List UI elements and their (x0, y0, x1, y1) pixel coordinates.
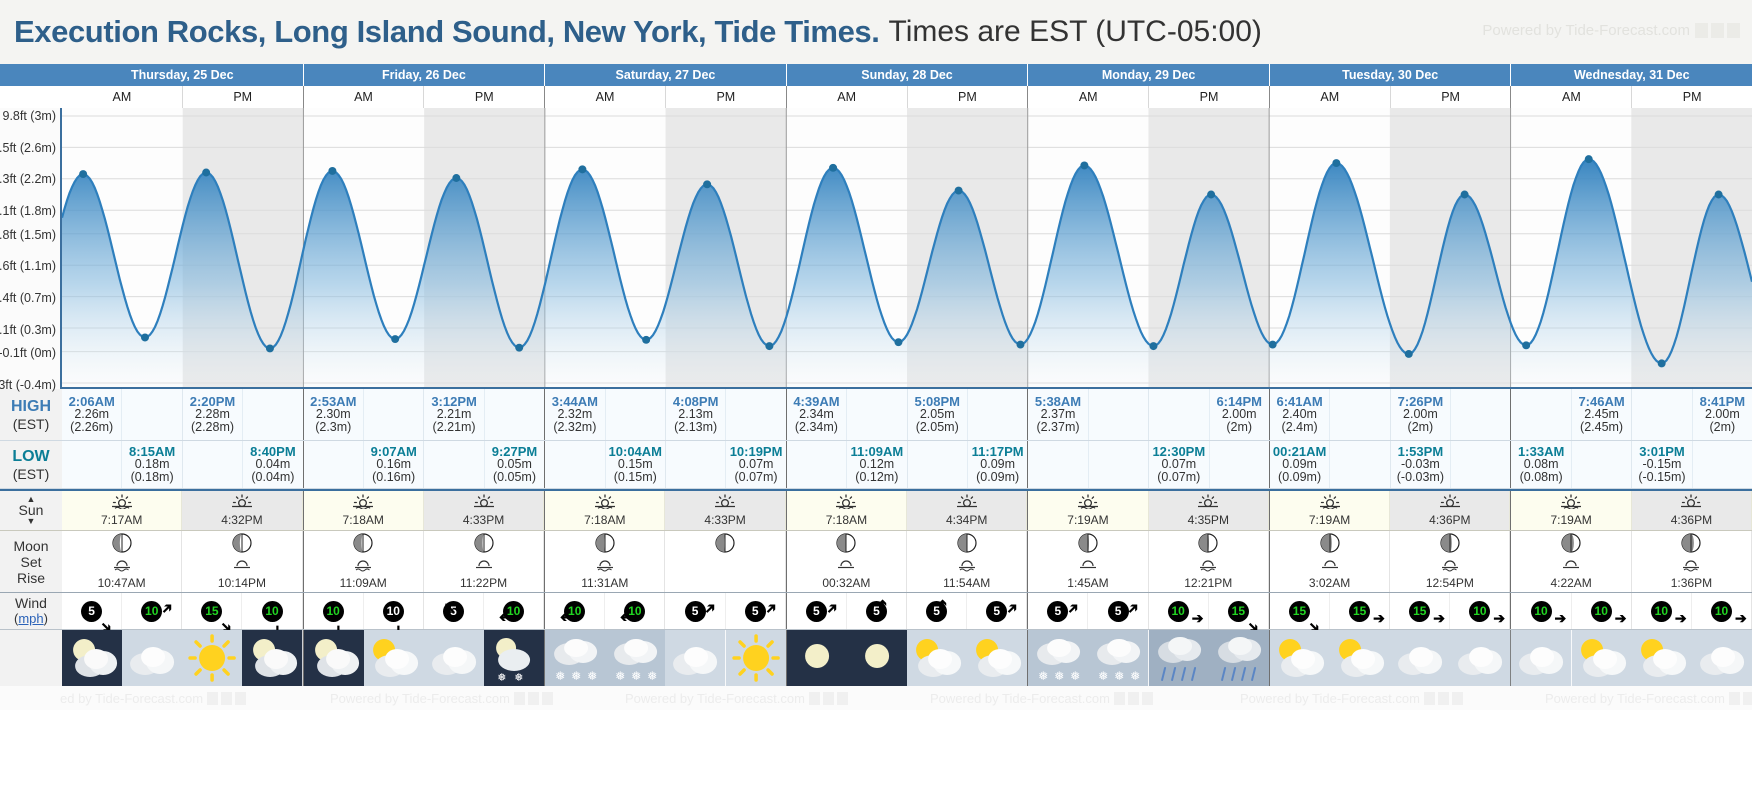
high-tide-days: 2:06AM2.26m(2.26m)2:20PM2.28m(2.28m)2:53… (62, 389, 1752, 440)
wind-half-pm: 15➔10➔ (182, 593, 302, 629)
weather-icon-snow-night: ❅❅ (484, 630, 544, 686)
wind-cell: 10➔ (484, 593, 543, 629)
wind-direction-arrow-icon: ➔ (1373, 611, 1385, 625)
weather-icon-cloud (665, 630, 725, 686)
sun-day-6: 7:19AM4:36PM (1511, 491, 1752, 530)
weather-icon-night-cloud (304, 630, 364, 686)
sun-label-text: Sun (19, 505, 44, 516)
moonrise-icon (835, 558, 857, 577)
high-tide-cell: 5:38AM2.37m(2.37m) (1028, 389, 1088, 440)
low-tide-row: LOW (EST) 8:15AM0.18m(0.18m)8:40PM0.04m(… (0, 441, 1752, 489)
wind-direction-arrow-icon: ➔ (1555, 611, 1567, 625)
watermark-footer-0: ed by Tide-Forecast.com (60, 691, 246, 706)
tide-extreme-point-24 (1585, 155, 1593, 163)
moon-rise-time: 4:22AM (1550, 577, 1591, 590)
wind-speed-badge: 10➔ (624, 601, 645, 622)
svg-text:❅: ❅ (497, 671, 506, 684)
moon-phase-icon (112, 533, 132, 558)
date-header-day-6: Wednesday, 31 Dec (1511, 64, 1752, 86)
low-tide-cell (424, 441, 484, 488)
wind-direction-arrow-icon: ➔ (935, 599, 949, 611)
sun-set-cell: 4:33PM (424, 491, 544, 530)
moon-cell-am: 11:09AM (304, 531, 424, 592)
tide-extreme-point-0 (79, 170, 87, 178)
low-tide-cell (1210, 441, 1269, 488)
high-tide-day-1: 2:53AM2.30m(2.3m)3:12PM2.21m(2.21m) (304, 389, 546, 440)
wind-speed-badge: 10➔ (262, 601, 283, 622)
high-tide-day-3: 4:39AM2.34m(2.34m)5:08PM2.05m(2.05m) (787, 389, 1029, 440)
sunset-icon (231, 494, 253, 514)
wind-unit-link[interactable]: mph (18, 611, 43, 626)
moon-cell-pm: 12:21PM (1149, 531, 1269, 592)
low-tide-height-alt: (0.09m) (1278, 471, 1321, 484)
wind-speed-badge: 10➔ (1469, 601, 1490, 622)
high-tide-half-pm: 7:26PM2.00m(2m) (1391, 389, 1511, 440)
date-header-day-0: Thursday, 25 Dec (62, 64, 304, 86)
y-axis-tick-2: 7.3ft (2.2m) (0, 172, 56, 186)
high-tide-half-pm: 8:41PM2.00m(2m) (1632, 389, 1752, 440)
weather-icon-night-cloud (242, 630, 302, 686)
watermark-footer-text: Powered by Tide-Forecast.com (330, 691, 510, 706)
tide-extreme-point-13 (894, 338, 902, 346)
tide-extreme-point-25 (1658, 359, 1666, 367)
high-tide-half-am: 5:38AM2.37m(2.37m) (1028, 389, 1149, 440)
weather-icon-sun-cloud (907, 630, 967, 686)
moonset-icon (352, 558, 374, 577)
weather-icon-sun (726, 630, 786, 686)
svg-text:❅: ❅ (647, 669, 657, 683)
low-tide-height-alt: (0.04m) (251, 471, 294, 484)
high-tide-height-alt: (2.34m) (795, 421, 838, 434)
watermark-flag-icons (514, 692, 553, 705)
low-tide-cell: 10:19PM0.07m(0.07m) (726, 441, 785, 488)
wind-cell: 5➔ (1088, 593, 1147, 629)
wind-direction-arrow-icon: ➔ (1124, 599, 1142, 617)
wind-speed-badge: 5➔ (1047, 601, 1068, 622)
low-tide-height-alt: (0.08m) (1520, 471, 1563, 484)
tide-extreme-point-17 (1149, 342, 1157, 350)
wind-speed-badge: 5➔ (443, 601, 464, 622)
ampm-cell-am: AM (1028, 86, 1149, 108)
high-tide-height-alt: (2m) (1710, 421, 1736, 434)
sunrise-icon (1560, 494, 1582, 514)
svg-text:❅: ❅ (1054, 669, 1064, 683)
sun-set-cell: 4:34PM (907, 491, 1027, 530)
wind-cell: 5➔ (787, 593, 847, 629)
low-tide-cell (1089, 441, 1148, 488)
high-tide-row: HIGH (EST) 2:06AM2.26m(2.26m)2:20PM2.28m… (0, 389, 1752, 441)
high-tide-cell (243, 389, 302, 440)
wind-direction-arrow-icon: ➔ (440, 599, 458, 617)
sun-set-time: 4:36PM (1429, 514, 1470, 527)
wind-direction-arrow-icon: ➔ (1615, 611, 1627, 625)
tide-chart: 9.8ft (3m)8.5ft (2.6m)7.3ft (2.2m)6.1ft … (0, 108, 1752, 389)
weather-day-3 (787, 630, 1029, 686)
weather-icon-rain (1149, 630, 1209, 686)
moon-cell-pm: 10:14PM (182, 531, 302, 592)
wind-speed-badge: 10➔ (503, 601, 524, 622)
wind-speed-badge: 5➔ (1108, 601, 1129, 622)
sunrise-icon (352, 494, 374, 514)
wind-day-4: 5➔5➔10➔15➔ (1028, 593, 1270, 629)
wind-cell: 10➔ (1572, 593, 1631, 629)
moon-cell-pm (665, 531, 785, 592)
wind-row: Wind (mph) 5➔10➔15➔10➔10➔10➔5➔10➔10➔10➔5… (0, 593, 1752, 630)
ampm-cell-am: AM (1270, 86, 1391, 108)
weather-icon-sun (182, 630, 242, 686)
watermark-flag-icons (1114, 692, 1153, 705)
low-tide-half-am: 9:07AM0.16m(0.16m) (304, 441, 425, 488)
low-tide-day-2: 10:04AM0.15m(0.15m)10:19PM0.07m(0.07m) (545, 441, 787, 488)
wind-speed-badge: 5➔ (926, 601, 947, 622)
wind-speed-badge: 10➔ (1591, 601, 1612, 622)
sun-day-1: 7:18AM4:33PM (304, 491, 546, 530)
sunrise-icon (111, 494, 133, 514)
wind-speed-badge: 10➔ (383, 601, 404, 622)
tide-extreme-point-9 (642, 336, 650, 344)
watermark-top-text: Powered by Tide-Forecast.com (1482, 22, 1690, 39)
sunset-icon (1680, 494, 1702, 514)
low-tide-cell (304, 441, 364, 488)
y-axis-tick-1: 8.5ft (2.6m) (0, 141, 56, 155)
wind-cell: 10➔ (1692, 593, 1751, 629)
wind-speed-badge: 10➔ (141, 601, 162, 622)
tide-extreme-point-23 (1522, 341, 1530, 349)
weather-icon-sun-cloud (1270, 630, 1330, 686)
tide-extreme-point-26 (1715, 191, 1723, 199)
weather-icon-sun-cloud (1330, 630, 1390, 686)
page-header: Execution Rocks, Long Island Sound, New … (0, 0, 1752, 64)
tide-extreme-point-14 (955, 187, 963, 195)
weather-day-2: ❅❅❅❅❅❅ (545, 630, 787, 686)
wind-cell: 10➔ (545, 593, 605, 629)
high-tide-cell (847, 389, 906, 440)
sun-set-cell: 4:36PM (1390, 491, 1510, 530)
low-tide-cell (666, 441, 726, 488)
wind-direction-arrow-icon: ➔ (822, 599, 840, 617)
wind-cell: 10➔ (1511, 593, 1571, 629)
tide-extreme-point-15 (1016, 341, 1024, 349)
wind-label: Wind (mph) (0, 593, 62, 629)
moon-phase-icon (836, 533, 856, 558)
flag-icon (1128, 692, 1139, 705)
high-tide-cell (726, 389, 785, 440)
moon-cell-pm: 1:36PM (1632, 531, 1752, 592)
weather-icon-sun-cloud (1632, 630, 1692, 686)
low-tide-half-am: 10:04AM0.15m(0.15m) (545, 441, 666, 488)
high-tide-cell: 3:12PM2.21m(2.21m) (424, 389, 484, 440)
wind-cell: 5➔ (847, 593, 906, 629)
high-tide-cell: 7:46AM2.45m(2.45m) (1572, 389, 1631, 440)
low-tide-cell: 8:40PM0.04m(0.04m) (243, 441, 302, 488)
sun-rise-time: 7:18AM (343, 514, 384, 527)
tide-extreme-point-16 (1080, 161, 1088, 169)
page-footer: ed by Tide-Forecast.comPowered by Tide-F… (0, 686, 1752, 710)
low-tide-cell (545, 441, 605, 488)
moon-phase-icon (1561, 533, 1581, 558)
flag-icon (207, 692, 218, 705)
watermark-footer-2: Powered by Tide-Forecast.com (625, 691, 848, 706)
moon-cell-am: 11:31AM (545, 531, 665, 592)
sun-rise-cell: 7:19AM (1028, 491, 1148, 530)
sun-day-0: 7:17AM4:32PM (62, 491, 304, 530)
low-tide-half-pm: 12:30PM0.07m(0.07m) (1149, 441, 1269, 488)
moon-day-5: 3:02AM12:54PM (1270, 531, 1512, 592)
wind-speed-badge: 5➔ (866, 601, 887, 622)
moon-phase-icon (1681, 533, 1701, 558)
wind-cell: 5➔ (1028, 593, 1088, 629)
high-tide-half-pm: 2:20PM2.28m(2.28m) (183, 389, 303, 440)
weather-icon-sun-cloud (967, 630, 1027, 686)
ampm-cell-pm: PM (1149, 86, 1269, 108)
tide-extreme-point-3 (266, 344, 274, 352)
moon-set-time: 11:09AM (340, 577, 387, 590)
wind-cell: 15➔ (182, 593, 242, 629)
flag-icon (1711, 23, 1724, 38)
moon-set-time: 12:54PM (1426, 577, 1474, 590)
low-tide-height-alt: (0.05m) (493, 471, 536, 484)
tide-extreme-point-21 (1405, 350, 1413, 358)
high-tide-half-pm: 4:08PM2.13m(2.13m) (666, 389, 786, 440)
flag-icon (1743, 692, 1752, 705)
low-tide-half-am: 1:33AM0.08m(0.08m) (1511, 441, 1632, 488)
sunrise-icon (835, 494, 857, 514)
moonrise-icon (1077, 558, 1099, 577)
sun-rise-time: 7:19AM (1067, 514, 1108, 527)
flag-icon (1727, 23, 1740, 38)
wind-cell: 15➔ (1209, 593, 1268, 629)
wind-direction-arrow-icon: ➔ (158, 599, 176, 617)
wind-direction-arrow-icon: ➔ (620, 611, 632, 625)
low-tide-cell: 8:15AM0.18m(0.18m) (122, 441, 181, 488)
date-header-day-1: Friday, 26 Dec (304, 64, 546, 86)
high-tide-cell (1149, 389, 1209, 440)
low-tide-height-alt: (-0.15m) (1638, 471, 1685, 484)
moon-phase-icon (1198, 533, 1218, 558)
high-tide-day-2: 3:44AM2.32m(2.32m)4:08PM2.13m(2.13m) (545, 389, 787, 440)
moon-days: 10:47AM10:14PM11:09AM11:22PM11:31AM00:32… (62, 531, 1752, 592)
wind-cell: 5➔ (424, 593, 484, 629)
ampm-day-4: AMPM (1028, 86, 1270, 108)
tide-extreme-point-11 (765, 342, 773, 350)
low-tide-half-pm: 9:27PM0.05m(0.05m) (424, 441, 544, 488)
weather-icon-sun-cloud (364, 630, 424, 686)
weather-day-1: ❅❅ (304, 630, 546, 686)
weather-icon-cloud (1511, 630, 1571, 686)
high-tide-half-pm: 5:08PM2.05m(2.05m) (908, 389, 1028, 440)
high-tide-cell (1511, 389, 1571, 440)
y-axis-tick-8: -0.1ft (0m) (0, 346, 56, 360)
weather-half-am (1511, 630, 1631, 686)
moon-phase-icon (474, 533, 494, 558)
wind-half-am: 5➔10➔ (62, 593, 182, 629)
high-tide-half-am: 3:44AM2.32m(2.32m) (545, 389, 666, 440)
high-tide-cell: 7:26PM2.00m(2m) (1391, 389, 1451, 440)
wind-speed-badge: 5➔ (685, 601, 706, 622)
watermark-flag-icons (1424, 692, 1463, 705)
wind-direction-arrow-icon: ➔ (1433, 611, 1445, 625)
flag-icon (221, 692, 232, 705)
high-tide-height-alt: (2.4m) (1282, 421, 1318, 434)
watermark-flag-icons (207, 692, 246, 705)
sun-day-2: 7:18AM4:33PM (545, 491, 787, 530)
watermark-footer-3: Powered by Tide-Forecast.com (930, 691, 1153, 706)
wind-speed-badge: 5➔ (806, 601, 827, 622)
weather-icon-cloud (1390, 630, 1450, 686)
low-tide-label: LOW (EST) (0, 441, 62, 488)
low-tide-cell (908, 441, 968, 488)
sun-set-cell: 4:33PM (665, 491, 785, 530)
sunset-icon (714, 494, 736, 514)
low-tide-day-4: 12:30PM0.07m(0.07m) (1028, 441, 1270, 488)
wind-day-0: 5➔10➔15➔10➔ (62, 593, 304, 629)
sun-rise-time: 7:18AM (584, 514, 625, 527)
wind-cell: 15➔ (1390, 593, 1450, 629)
weather-half-pm (665, 630, 785, 686)
low-tide-height-alt: (0.16m) (372, 471, 415, 484)
moonset-icon (111, 558, 133, 577)
ampm-header-row: AMPMAMPMAMPMAMPMAMPMAMPMAMPM (0, 86, 1752, 108)
tide-extreme-point-20 (1332, 159, 1340, 167)
low-tide-half-am (1028, 441, 1149, 488)
tide-extreme-point-5 (391, 335, 399, 343)
ampm-day-1: AMPM (304, 86, 546, 108)
low-tide-cell (1693, 441, 1752, 488)
y-axis-tick-3: 6.1ft (1.8m) (0, 204, 56, 218)
ampm-header-days: AMPMAMPMAMPMAMPMAMPMAMPMAMPM (62, 86, 1752, 108)
moon-phase-icon (1078, 533, 1098, 558)
wind-half-pm: 15➔10➔ (1390, 593, 1510, 629)
date-header-day-5: Tuesday, 30 Dec (1270, 64, 1512, 86)
weather-half-pm (1632, 630, 1752, 686)
moon-cell-pm: 11:54AM (907, 531, 1027, 592)
svg-text:❅: ❅ (1099, 669, 1109, 683)
weather-day-4: ❅❅❅❅❅❅ (1028, 630, 1270, 686)
high-tide-height-alt: (2.13m) (674, 421, 717, 434)
low-tide-height-alt: (0.07m) (735, 471, 778, 484)
moon-phase-icon (715, 533, 735, 558)
high-tide-height-alt: (2.26m) (70, 421, 113, 434)
low-tide-half-am: 8:15AM0.18m(0.18m) (62, 441, 183, 488)
low-tide-day-5: 00:21AM0.09m(0.09m)1:53PM-0.03m(-0.03m) (1270, 441, 1512, 488)
wind-half-am: 10➔10➔ (1511, 593, 1631, 629)
weather-icon-cloud (122, 630, 182, 686)
high-tide-height-alt: (2.21m) (433, 421, 476, 434)
wind-half-pm: 10➔15➔ (1149, 593, 1269, 629)
moon-phase-icon (353, 533, 373, 558)
flag-icon (1142, 692, 1153, 705)
sun-down-arrow-icon: ▼ (27, 516, 36, 527)
weather-icon-snow-cloud: ❅❅❅ (1088, 630, 1148, 686)
moon-day-1: 11:09AM11:22PM (304, 531, 546, 592)
low-tide-cell (1028, 441, 1088, 488)
high-tide-label-text: HIGH (11, 398, 51, 416)
flag-icon (542, 692, 553, 705)
low-tide-height-alt: (-0.03m) (1397, 471, 1444, 484)
high-tide-cell (485, 389, 544, 440)
tide-extreme-point-12 (829, 164, 837, 172)
y-axis-tick-9: -1.3ft (-0.4m) (0, 378, 56, 392)
watermark-footer-text: ed by Tide-Forecast.com (60, 691, 203, 706)
watermark-footer-4: Powered by Tide-Forecast.com (1240, 691, 1463, 706)
wind-direction-arrow-icon: ➔ (560, 611, 572, 625)
weather-day-6 (1511, 630, 1752, 686)
svg-text:❅: ❅ (1038, 669, 1048, 683)
low-tide-cell (1451, 441, 1510, 488)
watermark-flag-icons (1729, 692, 1752, 705)
flag-icon (809, 692, 820, 705)
high-tide-cell (1089, 389, 1148, 440)
y-axis-tick-0: 9.8ft (3m) (3, 109, 57, 123)
sun-rise-cell: 7:18AM (545, 491, 665, 530)
low-tide-height-alt: (0.18m) (131, 471, 174, 484)
moon-cell-pm: 11:22PM (424, 531, 544, 592)
date-header-day-4: Monday, 29 Dec (1028, 64, 1270, 86)
weather-icon-row: ❅❅❅❅❅❅❅❅❅❅❅❅❅❅ (0, 630, 1752, 686)
moon-row: Moon Set Rise 10:47AM10:14PM11:09AM11:22… (0, 531, 1752, 593)
moonrise-icon (231, 558, 253, 577)
paren-close: ) (44, 611, 48, 626)
wind-speed-badge: 5➔ (745, 601, 766, 622)
wind-speed-badge: 5➔ (81, 601, 102, 622)
wind-speed-badge: 10➔ (564, 601, 585, 622)
high-tide-cell (1330, 389, 1389, 440)
page-title: Execution Rocks, Long Island Sound, New … (14, 14, 879, 50)
wind-days: 5➔10➔15➔10➔10➔10➔5➔10➔10➔10➔5➔5➔5➔5➔5➔5➔… (62, 593, 1752, 629)
flag-icon (823, 692, 834, 705)
weather-icon-moon (787, 630, 847, 686)
moon-day-6: 4:22AM1:36PM (1511, 531, 1752, 592)
moon-label-text: Moon (13, 538, 48, 554)
low-tide-half-pm: 1:53PM-0.03m(-0.03m) (1391, 441, 1511, 488)
wind-cell: 5➔ (726, 593, 785, 629)
wind-speed-badge: 15➔ (1228, 601, 1249, 622)
moon-rise-time: 00:32AM (822, 577, 870, 590)
low-tide-half-am: 00:21AM0.09m(0.09m) (1270, 441, 1391, 488)
ampm-cell-am: AM (304, 86, 425, 108)
wind-half-am: 10➔10➔ (545, 593, 665, 629)
moon-rise-time: 10:14PM (218, 577, 266, 590)
ampm-cell-am: AM (1511, 86, 1632, 108)
weather-half-pm (907, 630, 1027, 686)
wind-cell: 10➔ (1632, 593, 1692, 629)
high-tide-cell: 4:39AM2.34m(2.34m) (787, 389, 847, 440)
date-header-row: Thursday, 25 DecFriday, 26 DecSaturday, … (0, 64, 1752, 86)
sunset-icon (473, 494, 495, 514)
date-header-day-3: Sunday, 28 Dec (787, 64, 1029, 86)
moonset-icon (956, 558, 978, 577)
high-tide-day-5: 6:41AM2.40m(2.4m)7:26PM2.00m(2m) (1270, 389, 1512, 440)
wind-half-pm: 5➔5➔ (665, 593, 785, 629)
flag-icon (1452, 692, 1463, 705)
high-tide-label: HIGH (EST) (0, 389, 62, 440)
low-tide-day-0: 8:15AM0.18m(0.18m)8:40PM0.04m(0.04m) (62, 441, 304, 488)
weather-icon-cloud (1692, 630, 1752, 686)
sun-set-time: 4:35PM (1188, 514, 1229, 527)
wind-direction-arrow-icon: ➔ (1192, 611, 1204, 625)
high-tide-height-alt: (2.45m) (1580, 421, 1623, 434)
weather-day-5 (1270, 630, 1512, 686)
tide-extreme-point-4 (328, 167, 336, 175)
wind-cell: 5➔ (62, 593, 122, 629)
moonset-icon (594, 558, 616, 577)
moon-rise-time: 3:02AM (1309, 577, 1350, 590)
sun-rise-time: 7:19AM (1550, 514, 1591, 527)
high-tide-cell (968, 389, 1027, 440)
weather-icon-sun-cloud (1572, 630, 1632, 686)
moon-cell-am: 1:45AM (1028, 531, 1148, 592)
wind-cell: 5➔ (907, 593, 967, 629)
